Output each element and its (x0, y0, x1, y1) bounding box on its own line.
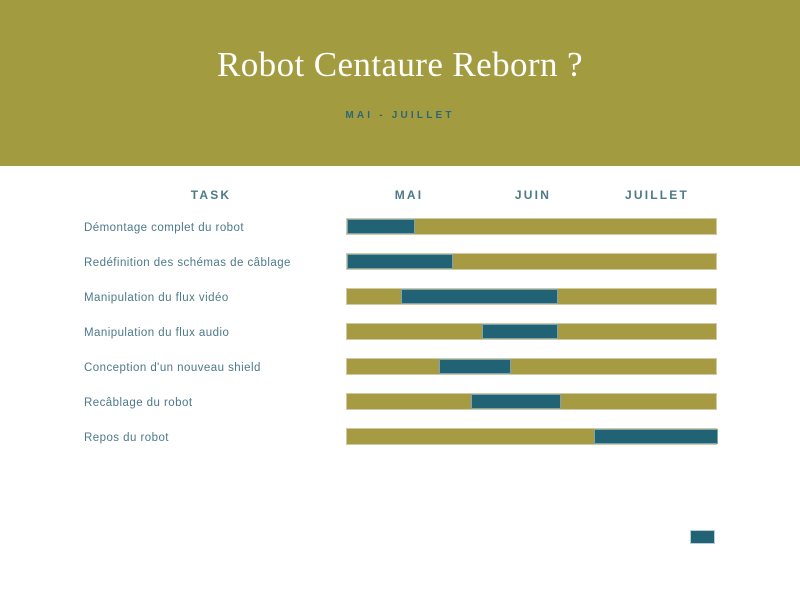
task-bar[interactable] (347, 254, 453, 269)
task-track (346, 358, 717, 375)
task-bar[interactable] (594, 429, 718, 444)
task-bar[interactable] (482, 324, 559, 339)
gantt-row: Manipulation du flux audio (0, 317, 800, 352)
task-track (346, 218, 717, 235)
task-bar[interactable] (347, 219, 415, 234)
task-track (346, 253, 717, 270)
gantt-row: Conception d'un nouveau shield (0, 352, 800, 387)
gantt-row: Redéfinition des schémas de câblage (0, 247, 800, 282)
legend-swatch (690, 530, 715, 544)
task-label: Manipulation du flux audio (84, 325, 334, 341)
task-track (346, 428, 717, 445)
gantt-rows: Démontage complet du robotRedéfinition d… (0, 0, 800, 600)
gantt-row: Démontage complet du robot (0, 212, 800, 247)
task-bar[interactable] (471, 394, 561, 409)
task-label: Recâblage du robot (84, 395, 334, 411)
gantt-row: Manipulation du flux vidéo (0, 282, 800, 317)
task-label: Redéfinition des schémas de câblage (84, 255, 334, 271)
gantt-row: Repos du robot (0, 422, 800, 457)
gantt-row: Recâblage du robot (0, 387, 800, 422)
task-label: Démontage complet du robot (84, 220, 334, 236)
task-bar[interactable] (439, 359, 512, 374)
gantt-slide: Robot Centaure Reborn ? MAI - JUILLET TA… (0, 0, 800, 600)
task-label: Conception d'un nouveau shield (84, 360, 334, 376)
task-track (346, 288, 717, 305)
task-label: Manipulation du flux vidéo (84, 290, 334, 306)
task-track (346, 393, 717, 410)
task-bar[interactable] (401, 289, 558, 304)
task-track (346, 323, 717, 340)
task-label: Repos du robot (84, 430, 334, 446)
